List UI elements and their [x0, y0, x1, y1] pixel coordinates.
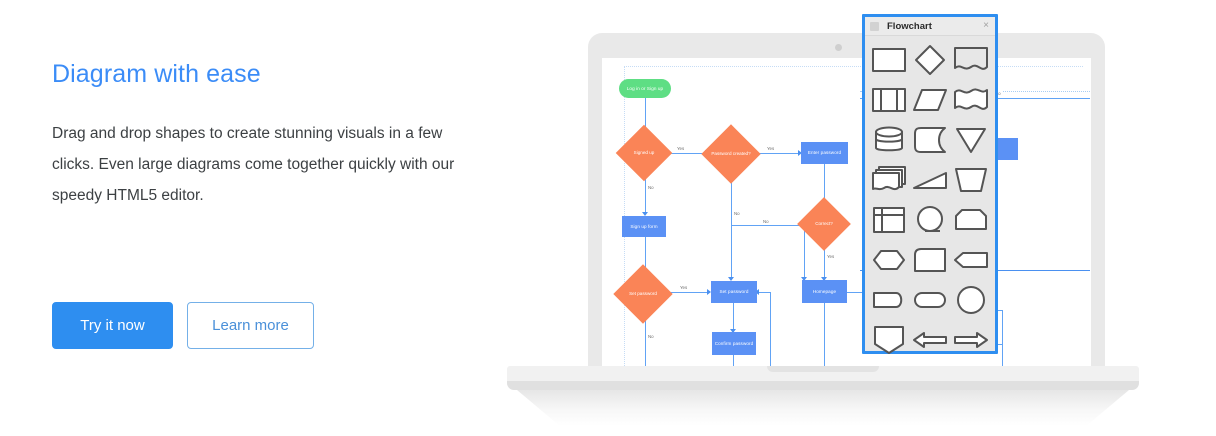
shape-delay-card-icon[interactable] — [909, 121, 950, 158]
shape-rounded-left-terminator-icon[interactable] — [868, 281, 909, 318]
laptop-base-shadow — [517, 390, 1129, 426]
edge-label: No — [733, 211, 741, 216]
laptop-base-lip — [507, 381, 1139, 390]
hero-copy: Diagram with ease Drag and drop shapes t… — [52, 58, 482, 211]
shape-arrow-right-icon[interactable] — [951, 321, 992, 358]
shape-internal-storage-icon[interactable] — [868, 201, 909, 238]
panel-grip-icon — [870, 22, 879, 31]
shape-rounded-rectangle-icon[interactable] — [909, 241, 950, 278]
shape-triangle-extract-icon[interactable] — [951, 121, 992, 158]
flow-node-label: Password created? — [710, 133, 752, 175]
flow-node-sign-up-form[interactable]: Sign up form — [622, 216, 666, 237]
connector — [757, 292, 771, 293]
flow-node-label: Correct? — [805, 205, 843, 243]
shape-rectangle-process-icon[interactable] — [868, 41, 909, 78]
webcam-dot — [835, 44, 842, 51]
edge-label: No — [647, 185, 655, 190]
shape-circle-connector-icon[interactable] — [951, 281, 992, 318]
edge-label: No — [647, 334, 655, 339]
learn-more-button[interactable]: Learn more — [187, 302, 314, 349]
flow-node-start[interactable]: Log in or Sign up — [619, 79, 671, 98]
shape-predefined-process-icon[interactable] — [868, 81, 909, 118]
shape-arrow-left-icon[interactable] — [909, 321, 950, 358]
edge-label: Yes — [826, 254, 835, 259]
shape-hexagon-horizontal-icon[interactable] — [951, 241, 992, 278]
shape-cylinder-database-icon[interactable] — [868, 121, 909, 158]
shape-hexagon-preparation-icon[interactable] — [868, 241, 909, 278]
edge-label: Yes — [766, 146, 775, 151]
shape-hexagon-top-cut-icon[interactable] — [951, 201, 992, 238]
flow-node-signed-up[interactable]: Signed up — [624, 133, 664, 173]
connector — [733, 303, 734, 331]
shape-multi-document-icon[interactable] — [951, 81, 992, 118]
flow-node-correct[interactable]: Correct? — [805, 205, 843, 243]
flow-node-confirm-password[interactable]: Confirm password — [712, 332, 756, 355]
laptop-screen: Yes Yes No No No Yes — [602, 58, 1091, 378]
palette-title-label: Flowchart — [887, 21, 932, 32]
flowchart-shape-palette[interactable]: Flowchart × — [862, 14, 998, 354]
shape-document-icon[interactable] — [951, 41, 992, 78]
edge-label: Yes — [676, 146, 685, 151]
flow-node-set-password[interactable]: Set password — [711, 281, 757, 303]
flow-node-set-password-decision[interactable]: Set password — [622, 273, 664, 315]
hero-section: Diagram with ease Drag and drop shapes t… — [0, 0, 1216, 436]
palette-shape-grid — [865, 36, 995, 350]
shape-trapezoid-manual-input-icon[interactable] — [951, 161, 992, 198]
flow-node-password-created[interactable]: Password created? — [710, 133, 752, 175]
hero-description: Drag and drop shapes to create stunning … — [52, 118, 472, 211]
edge-label: No — [762, 219, 770, 224]
connector — [731, 225, 805, 226]
laptop-hinge-notch — [767, 366, 879, 372]
shape-shield-pentagon-icon[interactable] — [868, 321, 909, 358]
page-title: Diagram with ease — [52, 58, 482, 90]
flow-node-enter-password[interactable]: Enter password — [801, 142, 848, 164]
flow-node-homepage[interactable]: Homepage — [802, 280, 847, 303]
edge-label: Yes — [679, 285, 688, 290]
shape-ramp-manual-operation-icon[interactable] — [909, 161, 950, 198]
shape-parallelogram-data-icon[interactable] — [909, 81, 950, 118]
flow-node-label: Signed up — [624, 133, 664, 173]
cta-button-row: Try it now Learn more — [52, 302, 314, 349]
shape-loop-limit-circle-icon[interactable] — [909, 201, 950, 238]
canvas-guides — [624, 66, 1083, 374]
close-icon[interactable]: × — [983, 19, 989, 33]
palette-titlebar[interactable]: Flowchart × — [865, 17, 995, 36]
try-it-now-button[interactable]: Try it now — [52, 302, 173, 349]
laptop-mockup: Yes Yes No No No Yes — [503, 12, 1143, 436]
flow-node-label: Set password — [622, 273, 664, 315]
shape-diamond-decision-icon[interactable] — [909, 41, 950, 78]
shape-multi-document-stack-icon[interactable] — [868, 161, 909, 198]
shape-stadium-terminator-icon[interactable] — [909, 281, 950, 318]
connector — [731, 175, 732, 279]
diagram-canvas[interactable]: Yes Yes No No No Yes — [602, 58, 1091, 378]
